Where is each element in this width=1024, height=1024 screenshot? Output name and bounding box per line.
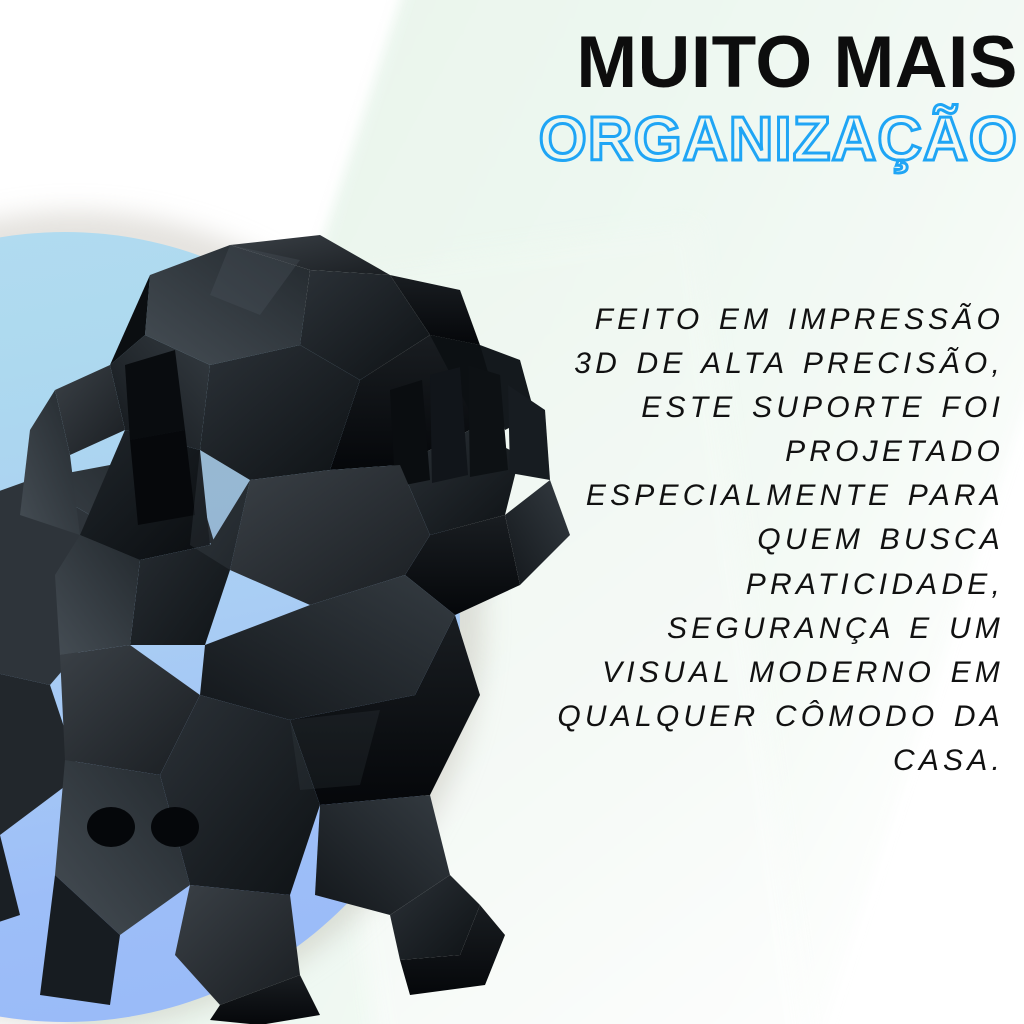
headline-block: MUITO MAIS ORGANIZAÇÃO: [470, 26, 1018, 172]
product-image-low-poly-dog-sculpture: [0, 215, 580, 1024]
body-paragraph: FEITO EM IMPRESSÃO 3D DE ALTA PRECISÃO, …: [556, 298, 1004, 783]
headline-line-primary: MUITO MAIS: [470, 26, 1018, 100]
body-paragraph-text: FEITO EM IMPRESSÃO 3D DE ALTA PRECISÃO, …: [557, 303, 1004, 777]
headline-line-outline: ORGANIZAÇÃO: [470, 108, 1018, 171]
poster-canvas: MUITO MAIS ORGANIZAÇÃO FEITO EM IMPRESSÃ…: [0, 0, 1024, 1024]
